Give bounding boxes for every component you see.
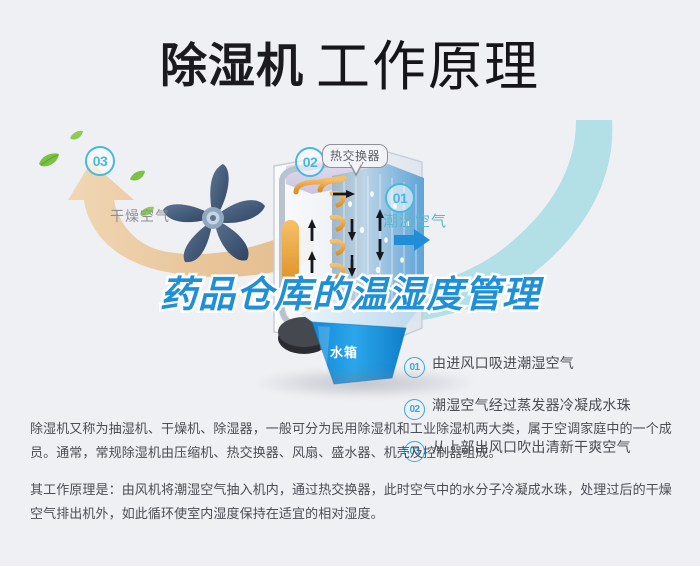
badge-01: 01 xyxy=(385,183,415,213)
callout-heat-exchanger: 热交换器 xyxy=(322,144,388,168)
page-title-part1: 除湿机 xyxy=(160,39,304,94)
list-item: 01 由进风口吸进潮湿空气 xyxy=(404,355,700,378)
page-root: 除湿机工作原理 xyxy=(0,0,700,566)
badge-02: 02 xyxy=(295,147,325,177)
overlay-headline: 药品仓库的温湿度管理 xyxy=(0,264,700,318)
body-paragraph-2: 其工作原理是：由风机将潮湿空气抽入机内，通过热交换器，此时空气中的水分子冷凝成水… xyxy=(30,479,675,527)
label-dry-air: 干燥空气 xyxy=(110,206,170,226)
step-text: 由进风口吸进潮湿空气 xyxy=(432,355,574,374)
step-number: 01 xyxy=(404,357,425,378)
list-item: 02 潮湿空气经过蒸发器冷凝成水珠 xyxy=(404,397,700,420)
badge-03: 03 xyxy=(85,146,115,176)
leaf-icon xyxy=(70,130,84,141)
body-copy: 除湿机又称为抽湿机、干燥机、除湿器，一般可分为民用除湿机和工业除湿机两大类，属于… xyxy=(30,418,675,527)
step-number: 02 xyxy=(404,399,425,420)
label-water-tank: 水箱 xyxy=(330,342,358,361)
leaf-icon xyxy=(130,170,146,182)
label-humid-air: 潮湿空气 xyxy=(383,210,447,231)
body-paragraph-1: 除湿机又称为抽湿机、干燥机、除湿器，一般可分为民用除湿机和工业除湿机两大类，属于… xyxy=(30,418,675,466)
page-title: 除湿机工作原理 xyxy=(0,22,700,101)
callout-tail-icon xyxy=(348,162,364,176)
illustration-stage: 03 02 01 干燥空气 潮湿空气 水箱 热交换器 01 由进风口吸进潮湿空气… xyxy=(0,110,700,410)
step-text: 潮湿空气经过蒸发器冷凝成水珠 xyxy=(432,397,631,416)
leaf-icon xyxy=(38,152,60,168)
page-title-part2: 工作原理 xyxy=(316,37,540,97)
